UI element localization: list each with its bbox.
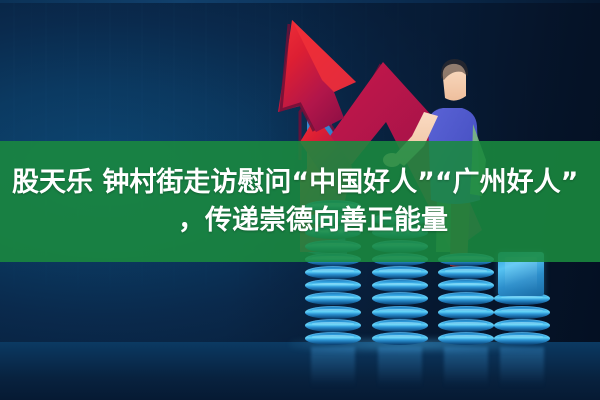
coin bbox=[438, 279, 494, 292]
coin bbox=[438, 306, 494, 319]
coin bbox=[372, 332, 428, 345]
stack-1-shadow bbox=[311, 347, 356, 387]
coin bbox=[372, 292, 428, 305]
coin bbox=[372, 319, 428, 332]
coin bbox=[438, 332, 494, 345]
coin bbox=[438, 266, 494, 279]
coin bbox=[305, 279, 361, 292]
coin bbox=[305, 319, 361, 332]
coin bbox=[494, 319, 550, 332]
stack-2-shadow bbox=[378, 347, 423, 387]
coin bbox=[305, 292, 361, 305]
banner-image: 股天乐 钟村街走访慰问“中国好人”“广州好人” ，传递崇德向善正能量 bbox=[0, 0, 600, 400]
coin bbox=[372, 266, 428, 279]
stack-4-shadow bbox=[500, 347, 545, 387]
coin bbox=[438, 319, 494, 332]
coin bbox=[494, 306, 550, 319]
stack-3-shadow bbox=[444, 347, 489, 387]
headline-line-2: ，传递崇德向善正能量 bbox=[152, 202, 448, 240]
headline-line-1: 股天乐 钟村街走访慰问“中国好人”“广州好人” bbox=[8, 164, 578, 202]
coin bbox=[494, 332, 550, 345]
coin bbox=[438, 292, 494, 305]
coin bbox=[305, 266, 361, 279]
coin bbox=[372, 279, 428, 292]
headline-block: 股天乐 钟村街走访慰问“中国好人”“广州好人” ，传递崇德向善正能量 bbox=[0, 141, 600, 262]
coin bbox=[305, 306, 361, 319]
coin bbox=[305, 332, 361, 345]
coin bbox=[372, 306, 428, 319]
